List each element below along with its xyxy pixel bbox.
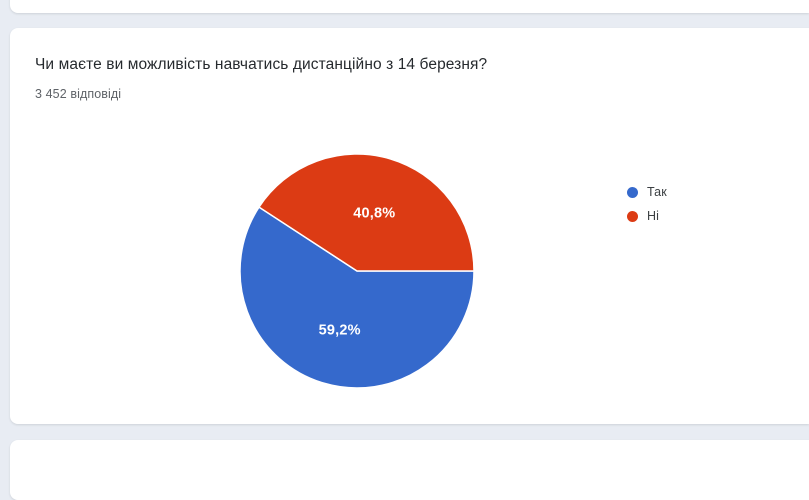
pie-slice-label-yes: 59,2% — [319, 322, 361, 338]
pie-slice-label-no: 40,8% — [353, 206, 395, 222]
next-question-card — [10, 440, 809, 500]
legend-circle-marker-yes — [627, 187, 638, 198]
app-page: Чи маєте ви можливість навчатись дистанц… — [0, 0, 809, 452]
chart-area: 59,2% 40,8% Так Ні — [10, 118, 809, 418]
pie-slices — [240, 154, 474, 388]
legend-item-no[interactable]: Ні — [627, 204, 667, 228]
legend-circle-marker-no — [627, 211, 638, 222]
legend-label-no: Ні — [647, 209, 659, 223]
pie-chart: 59,2% 40,8% — [232, 146, 482, 396]
question-title: Чи маєте ви можливість навчатись дистанц… — [35, 56, 487, 74]
previous-question-card — [10, 0, 809, 13]
response-count: 3 452 відповіді — [35, 87, 121, 101]
question-result-card: Чи маєте ви можливість навчатись дистанц… — [10, 28, 809, 424]
chart-legend: Так Ні — [627, 180, 667, 228]
pie-chart-svg: 59,2% 40,8% — [232, 146, 482, 396]
legend-item-yes[interactable]: Так — [627, 180, 667, 204]
legend-label-yes: Так — [647, 185, 667, 199]
